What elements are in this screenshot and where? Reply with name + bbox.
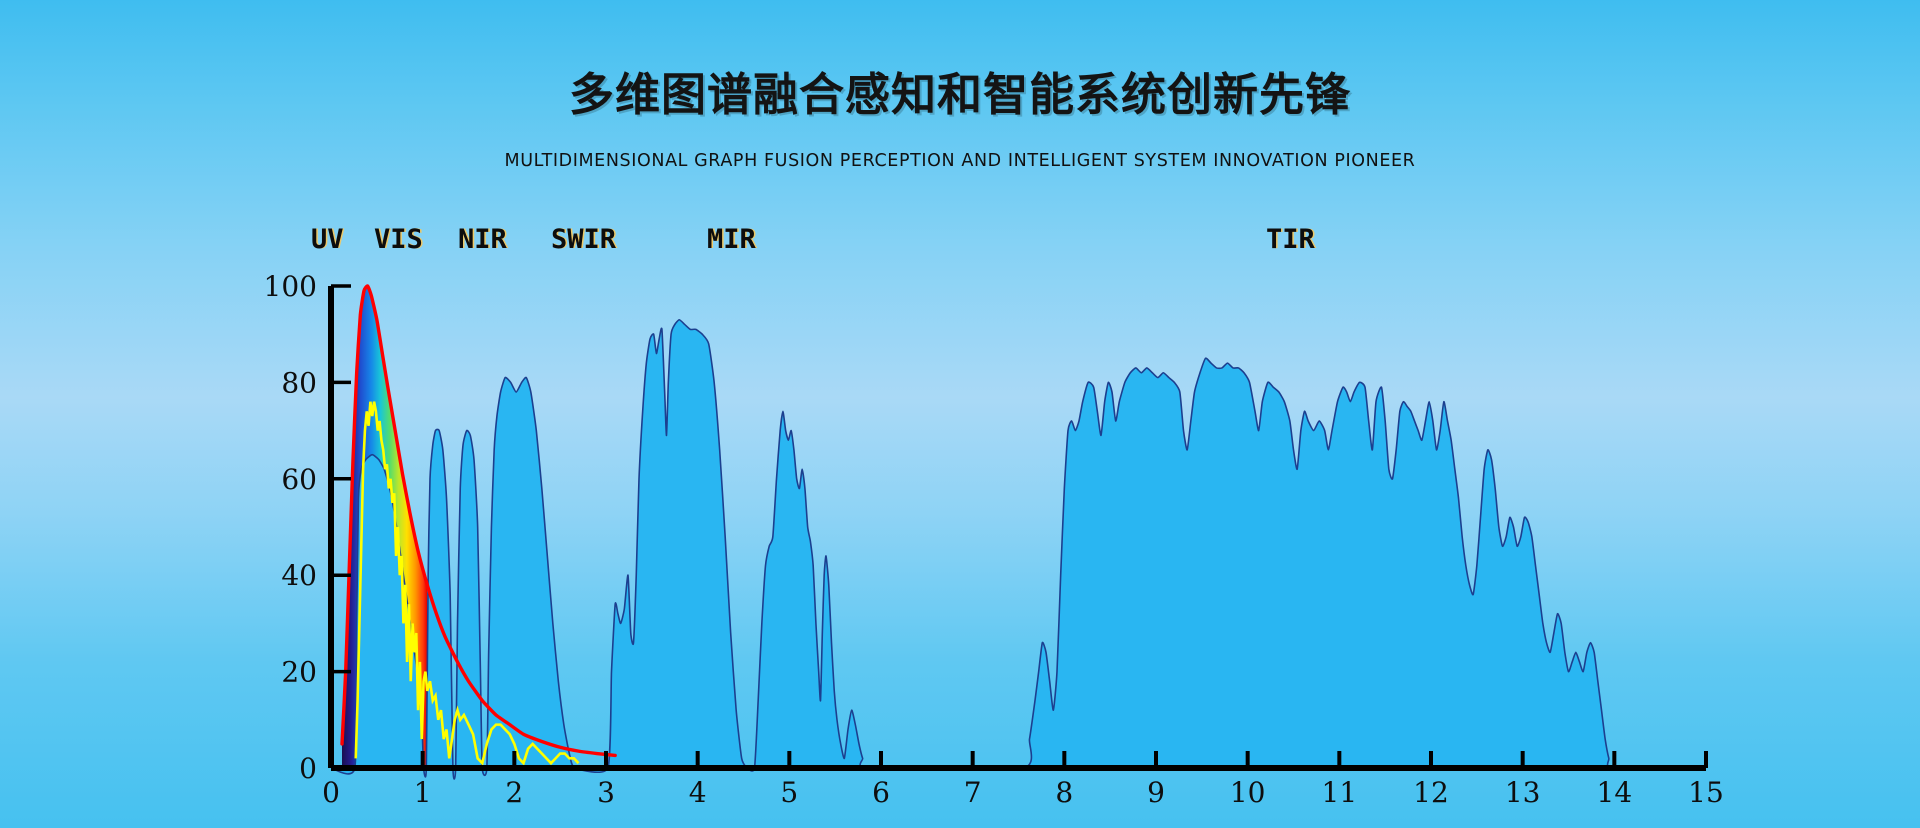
x-tick-label: 8 xyxy=(1055,776,1073,809)
y-tick-label: 40 xyxy=(281,559,317,592)
x-tick-label: 3 xyxy=(597,776,615,809)
atmospheric-transmission-area xyxy=(331,320,1706,779)
y-tick-label: 100 xyxy=(264,270,317,303)
spectrum-chart: 0123456789101112131415020406080100 xyxy=(0,0,1920,828)
x-tick-label: 4 xyxy=(689,776,707,809)
x-tick-label: 0 xyxy=(322,776,340,809)
y-tick-label: 20 xyxy=(281,656,317,689)
y-tick-label: 60 xyxy=(281,463,317,496)
x-tick-label: 15 xyxy=(1688,776,1724,809)
x-tick-label: 14 xyxy=(1597,776,1633,809)
x-tick-label: 2 xyxy=(505,776,523,809)
x-tick-label: 7 xyxy=(964,776,982,809)
x-tick-label: 1 xyxy=(414,776,432,809)
x-tick-label: 10 xyxy=(1230,776,1266,809)
x-tick-label: 9 xyxy=(1147,776,1165,809)
x-tick-label: 5 xyxy=(780,776,798,809)
y-tick-label: 80 xyxy=(281,366,317,399)
x-tick-label: 6 xyxy=(872,776,890,809)
x-tick-label: 11 xyxy=(1322,776,1358,809)
x-tick-label: 12 xyxy=(1413,776,1449,809)
infographic-root: 多维图谱融合感知和智能系统创新先锋 MULTIDIMENSIONAL GRAPH… xyxy=(0,0,1920,828)
y-tick-label: 0 xyxy=(299,752,317,785)
x-tick-label: 13 xyxy=(1505,776,1541,809)
